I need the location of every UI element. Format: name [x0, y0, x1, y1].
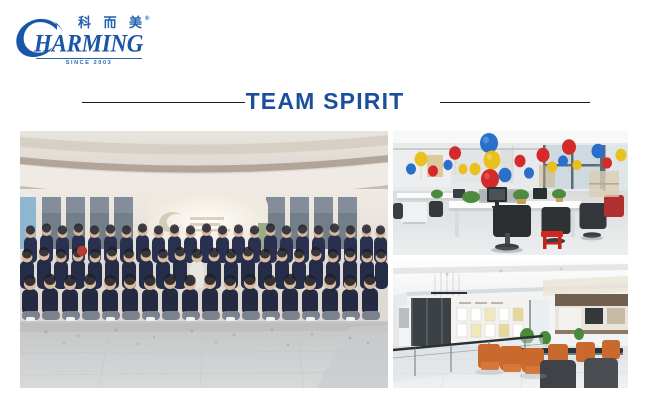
title-rule-right	[440, 102, 590, 103]
office-balloons-photo	[393, 131, 628, 255]
lounge-photo	[393, 262, 628, 388]
brand-wordmark: HARMING	[34, 31, 143, 57]
page-title: TEAM SPIRIT	[0, 84, 650, 118]
brand-tagline: SINCE 2003	[36, 59, 142, 68]
registered-mark-icon: ®	[145, 16, 149, 22]
slide-canvas: 科 而 美 ® HARMING SINCE 2003 TEAM SPIRIT	[0, 0, 650, 412]
section-header: TEAM SPIRIT	[0, 84, 650, 118]
office-balloons-image	[393, 131, 628, 255]
brand-chinese-name: 科 而 美	[78, 16, 146, 31]
brand-logo: 科 而 美 ® HARMING SINCE 2003	[12, 16, 162, 62]
group-photo-image	[20, 131, 388, 388]
group-photo	[20, 131, 388, 388]
lounge-image	[393, 262, 628, 388]
